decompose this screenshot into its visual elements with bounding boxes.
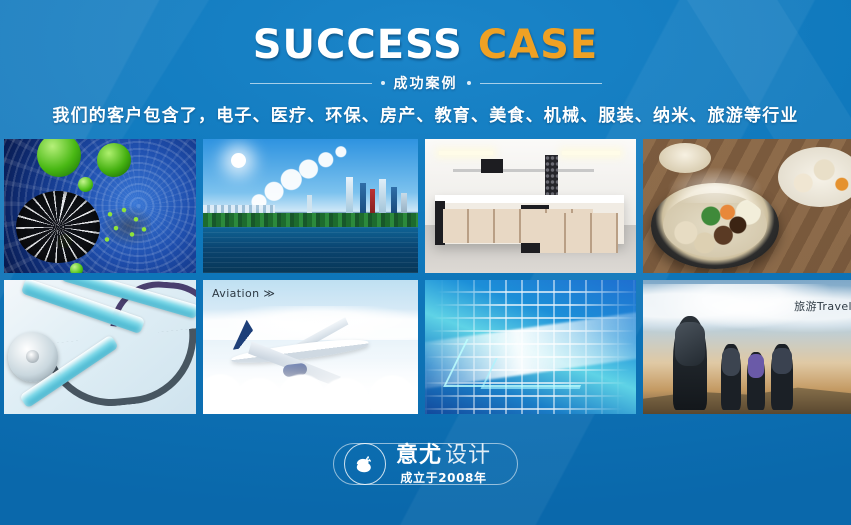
subtitle-chinese: 成功案例 [394, 73, 458, 93]
lab-shelf-rail [453, 169, 594, 172]
backpack [675, 322, 705, 366]
gallery-item-medical-equipment[interactable] [4, 280, 196, 414]
brand-name-row: 意尤 设计 [396, 445, 491, 467]
footer-logo-area: 意尤 设计 成立于2008年 [0, 433, 851, 495]
title-word-case: CASE [478, 22, 598, 68]
gallery-item-electronics-circuit[interactable] [425, 280, 636, 414]
tree-line [203, 213, 418, 227]
bird-logo-icon [353, 453, 376, 475]
divider-dot-right [467, 81, 471, 85]
fullerene-molecule [16, 191, 100, 263]
circuit-trace [481, 358, 595, 389]
brand-pill[interactable]: 意尤 设计 成立于2008年 [333, 443, 518, 485]
industries-tagline: 我们的客户包含了，电子、医疗、环保、房产、教育、美食、机械、服装、纳米、旅游等行… [0, 101, 851, 126]
brand-established: 成立于2008年 [396, 472, 491, 484]
title-word-success: SUCCESS [253, 22, 463, 68]
page-title: SUCCESS CASE [0, 22, 851, 68]
water-surface [203, 227, 418, 273]
gallery-item-food-hotpot[interactable] [643, 139, 851, 273]
hiker-figure-foreground [673, 316, 707, 410]
cabinet-doors [540, 213, 618, 253]
hiker-figure [721, 344, 741, 410]
ceiling-light [562, 151, 620, 155]
poster-canvas: SUCCESS CASE 成功案例 我们的客户包含了，电子、医疗、环保、房产、教… [0, 0, 851, 525]
gallery-item-nanotechnology[interactable] [4, 139, 196, 273]
cloud-band [203, 306, 418, 340]
industrial-plant [338, 167, 414, 217]
nano-particles [101, 205, 151, 247]
divider-line-right [480, 83, 602, 84]
divider-line-left [250, 83, 372, 84]
case-gallery-grid: Aviation ≫ 旅游Travel [4, 139, 847, 418]
poster-header: SUCCESS CASE 成功案例 我们的客户包含了，电子、医疗、环保、房产、教… [0, 0, 851, 135]
travel-caption: 旅游Travel [794, 298, 851, 314]
nano-sphere [70, 263, 83, 273]
steam [667, 167, 763, 203]
hiker-figure [747, 352, 765, 410]
brand-mark-circle [344, 443, 386, 485]
brand-name-light: 设计 [445, 445, 491, 467]
backpack [772, 348, 792, 374]
backpack [748, 354, 764, 378]
gallery-item-travel-hikers[interactable]: 旅游Travel [643, 280, 851, 414]
wall-box [481, 159, 503, 173]
cloud-layer [203, 358, 418, 414]
gallery-item-aviation[interactable]: Aviation ≫ [203, 280, 418, 414]
nano-sphere [78, 177, 93, 192]
control-panel [545, 155, 558, 195]
nano-sphere [97, 143, 131, 177]
gallery-item-environmental-protection[interactable] [203, 139, 418, 273]
divider-dot-left [381, 81, 385, 85]
gallery-item-laboratory-furniture[interactable] [425, 139, 636, 273]
aviation-caption: Aviation ≫ [212, 287, 275, 300]
ceiling-light [439, 151, 493, 155]
brand-text: 意尤 设计 成立于2008年 [396, 445, 491, 484]
backpack [722, 348, 740, 376]
subtitle-divider-row: 成功案例 [0, 70, 851, 96]
brand-name-strong: 意尤 [396, 445, 442, 467]
hiker-figure [771, 344, 793, 410]
